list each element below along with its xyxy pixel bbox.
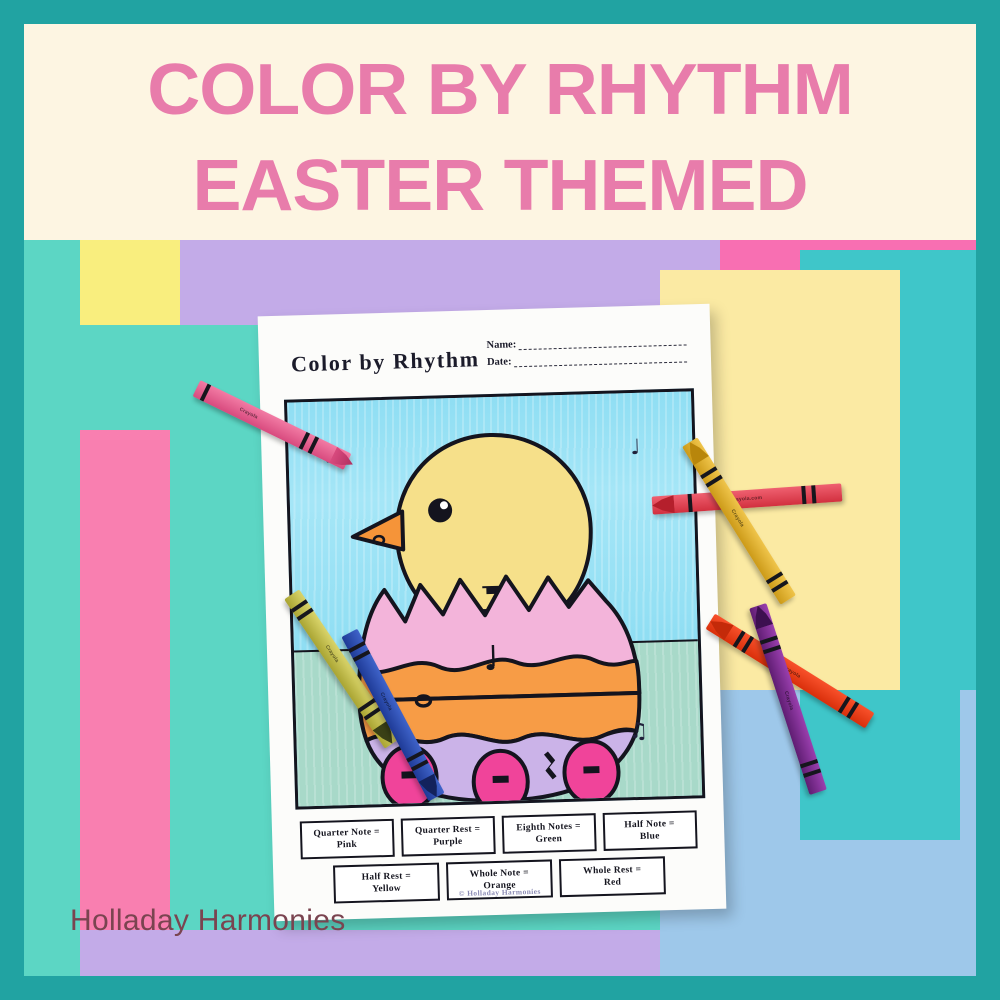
name-date-block: Name: Date: [486,334,687,374]
date-input-line[interactable] [513,352,687,367]
legend-symbol: Quarter Note = [307,826,385,840]
date-label: Date: [487,356,512,368]
legend-item-quarter-note: Quarter Note = Pink [299,819,394,860]
legend-symbol: Quarter Rest = [408,823,486,837]
product-photo: Color by Rhythm Name: Date: [24,240,976,976]
legend-item-eighth-notes: Eighth Notes = Green [501,813,596,854]
worksheet-header: Color by Rhythm Name: Date: [258,326,711,395]
legend-color: Purple [409,835,487,849]
name-field-row: Name: [486,334,686,351]
half-note-right-icon: ♩ [630,437,640,458]
legend-symbol: Eighth Notes = [509,820,587,834]
poster-canvas: COLOR BY RHYTHM EASTER THEMED Color by R… [0,0,1000,1000]
worksheet-title: Color by Rhythm [291,346,480,377]
title-line-1: COLOR BY RHYTHM [24,54,976,126]
title-line-2: EASTER THEMED [24,150,976,222]
legend-color: Blue [611,830,689,844]
name-input-line[interactable] [518,335,686,350]
bg-block-pink-left [80,430,170,976]
legend-row-1: Quarter Note = Pink Quarter Rest = Purpl… [294,810,703,859]
worksheet-paper: Color by Rhythm Name: Date: [258,304,727,921]
legend-item-half-note: Half Note = Blue [602,810,697,851]
bg-block-yellow-top-left [80,240,180,325]
brand-watermark: Holladay Harmonies [70,904,346,938]
legend-color: Pink [308,838,386,852]
title-band: COLOR BY RHYTHM EASTER THEMED [24,24,976,240]
bg-block-teal-bottom-right [800,690,960,840]
eighth-notes-icon: ♫ [628,721,648,744]
date-field-row: Date: [487,351,687,368]
legend-color: Green [510,832,588,846]
legend-item-quarter-rest: Quarter Rest = Purple [400,816,495,857]
name-label: Name: [486,339,516,351]
